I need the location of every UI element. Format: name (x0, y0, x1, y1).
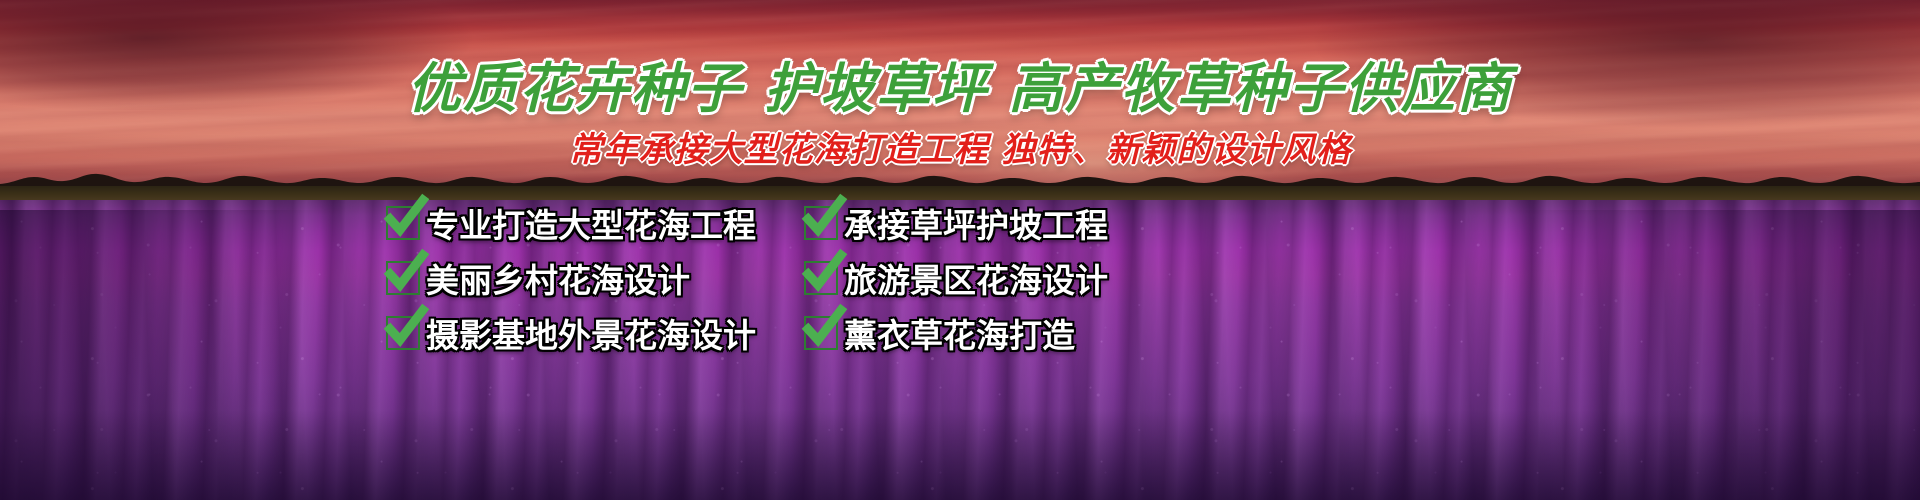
feature-row: 美丽乡村花海设计 旅游景区花海设计 (386, 251, 1206, 305)
feature-item: 专业打造大型花海工程 (386, 199, 804, 247)
feature-row: 摄影基地外景花海设计 薰衣草花海打造 (386, 306, 1206, 360)
feature-item: 美丽乡村花海设计 (386, 254, 804, 302)
feature-label: 承接草坪护坡工程 (844, 199, 1108, 247)
feature-item: 旅游景区花海设计 (804, 254, 1204, 302)
promo-banner: 优质花卉种子 护坡草坪 高产牧草种子供应商 常年承接大型花海打造工程 独特、新颖… (0, 0, 1920, 500)
field-vignette-bottom (0, 410, 1920, 500)
check-icon (804, 206, 838, 240)
feature-label: 摄影基地外景花海设计 (426, 309, 756, 357)
check-icon (804, 316, 838, 350)
feature-label: 美丽乡村花海设计 (426, 254, 690, 302)
banner-subheadline: 常年承接大型花海打造工程 独特、新颖的设计风格 (0, 122, 1920, 171)
check-icon (386, 316, 420, 350)
check-icon (386, 206, 420, 240)
feature-item: 承接草坪护坡工程 (804, 199, 1204, 247)
feature-list: 专业打造大型花海工程 承接草坪护坡工程 美丽乡村花海设计 旅游景区花海设 (386, 196, 1206, 361)
feature-row: 专业打造大型花海工程 承接草坪护坡工程 (386, 196, 1206, 250)
feature-item: 薰衣草花海打造 (804, 309, 1204, 357)
feature-label: 旅游景区花海设计 (844, 254, 1108, 302)
check-icon (386, 261, 420, 295)
check-icon (804, 261, 838, 295)
feature-label: 专业打造大型花海工程 (426, 199, 756, 247)
feature-label: 薰衣草花海打造 (844, 309, 1075, 357)
feature-item: 摄影基地外景花海设计 (386, 309, 804, 357)
banner-headline: 优质花卉种子 护坡草坪 高产牧草种子供应商 (0, 44, 1920, 123)
